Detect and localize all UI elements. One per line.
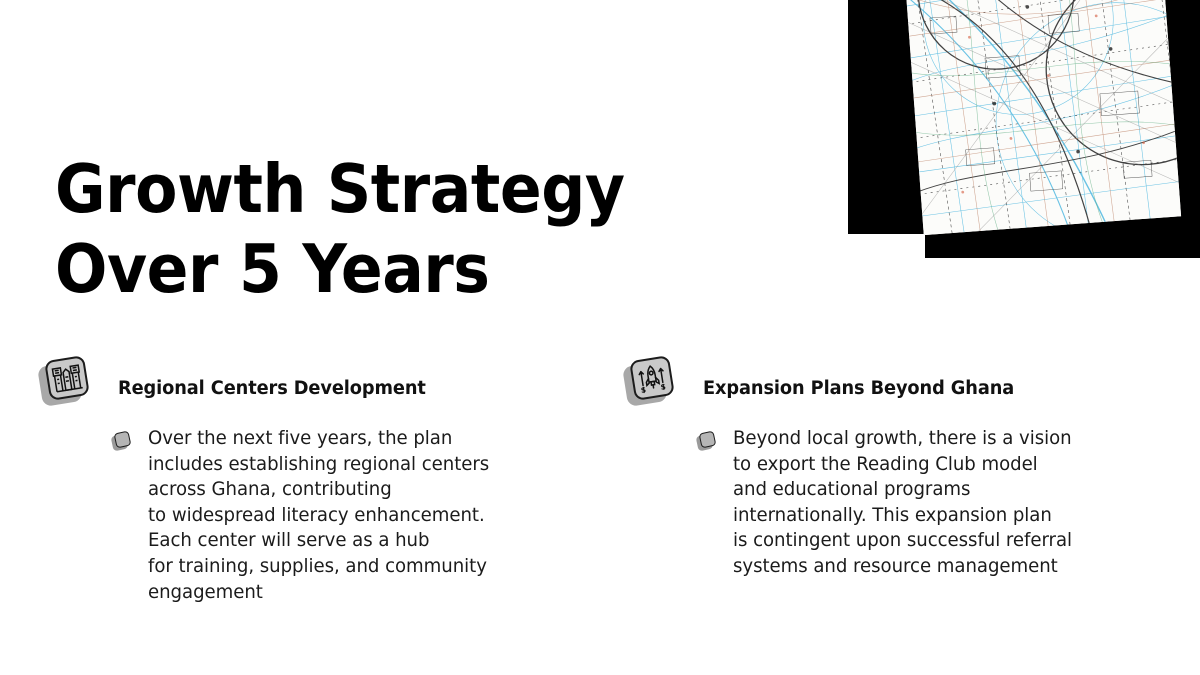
body-text: Over the next five years, the plan inclu… (148, 426, 581, 605)
icon-face: S S (629, 355, 675, 401)
square-bullet-icon (112, 432, 134, 454)
image-backdrop-bottom (925, 234, 1200, 258)
bullet-face (114, 431, 132, 449)
rocket-growth-icon: S S (629, 358, 673, 402)
section-heading: Regional Centers Development (118, 378, 426, 400)
column-header: Regional Centers Development (40, 358, 600, 414)
map-photo-frame (905, 0, 1181, 235)
slide-canvas: Growth Strategy Over 5 Years (0, 0, 1200, 675)
column-regional-centers: Regional Centers Development Over the ne… (40, 358, 600, 414)
section-heading: Expansion Plans Beyond Ghana (703, 378, 1014, 400)
bullet-row: Beyond local growth, there is a vision t… (697, 426, 1177, 580)
decorative-image-block (848, 0, 1200, 258)
bullet-face (699, 431, 717, 449)
column-header: S S Expansion Plans Beyond Ghana (625, 358, 1185, 414)
body-text: Beyond local growth, there is a vision t… (733, 426, 1166, 580)
icon-face (44, 355, 90, 401)
city-buildings-icon (44, 358, 88, 402)
page-title: Growth Strategy Over 5 Years (55, 149, 699, 309)
column-expansion-plans: S S Expansion Plans Beyond Ghana (625, 358, 1185, 414)
square-bullet-icon (697, 432, 719, 454)
map-blueprint-photo (905, 0, 1181, 235)
bullet-row: Over the next five years, the plan inclu… (112, 426, 592, 605)
